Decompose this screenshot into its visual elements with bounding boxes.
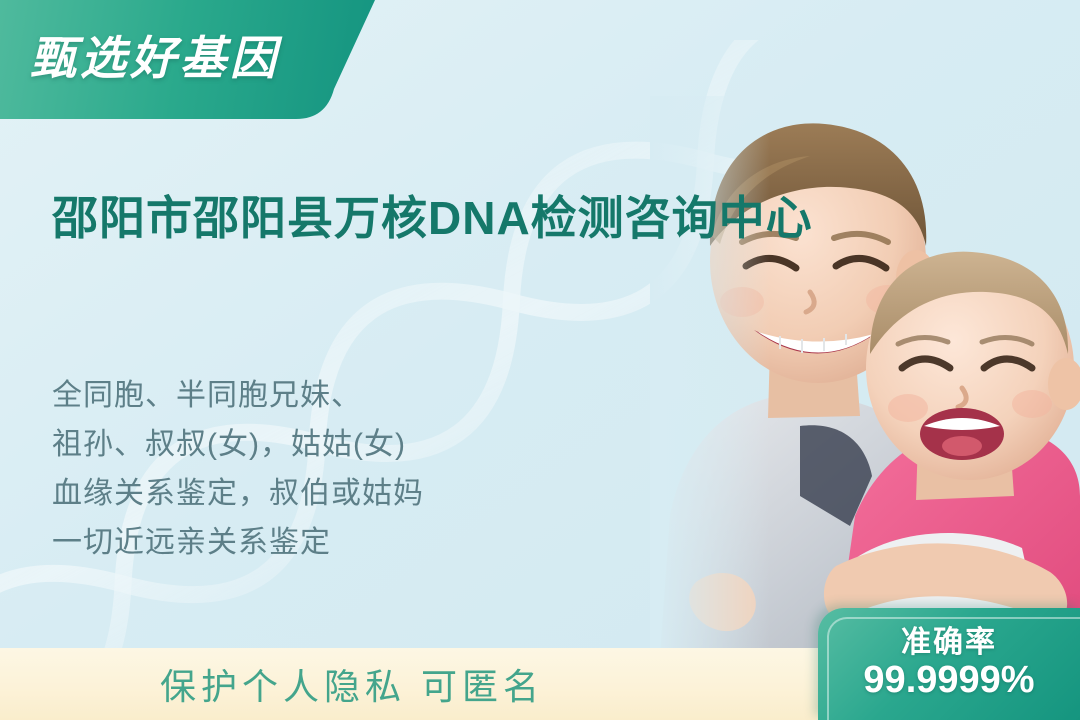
service-line-2: 祖孙、叔叔(女)，姑姑(女) (52, 421, 672, 470)
privacy-strip: 保护个人隐私 可匿名 (0, 648, 845, 720)
promo-poster: 甄选好基因 邵阳市邵阳县万核DNA检测咨询中心 全同胞、半同胞兄妹、 祖孙、叔叔… (0, 0, 1080, 720)
privacy-strip-text: 保护个人隐私 可匿名 (160, 658, 544, 710)
service-description: 全同胞、半同胞兄妹、 祖孙、叔叔(女)，姑姑(女) 血缘关系鉴定，叔伯或姑妈 一… (52, 372, 672, 568)
service-line-3: 血缘关系鉴定，叔伯或姑妈 (52, 470, 672, 519)
accuracy-badge: 准确率 99.9999% (818, 608, 1080, 720)
accuracy-badge-label: 准确率 (901, 626, 997, 659)
brand-logo-text: 甄选好基因 (30, 35, 280, 81)
brand-banner: 甄选好基因 (0, 0, 375, 119)
service-line-1: 全同胞、半同胞兄妹、 (52, 372, 672, 421)
two-smiling-children-photo (650, 96, 1080, 656)
accuracy-badge-value: 99.9999% (863, 659, 1034, 703)
service-line-4: 一切近远亲关系鉴定 (52, 519, 672, 568)
page-title: 邵阳市邵阳县万核DNA检测咨询中心 (52, 187, 822, 250)
